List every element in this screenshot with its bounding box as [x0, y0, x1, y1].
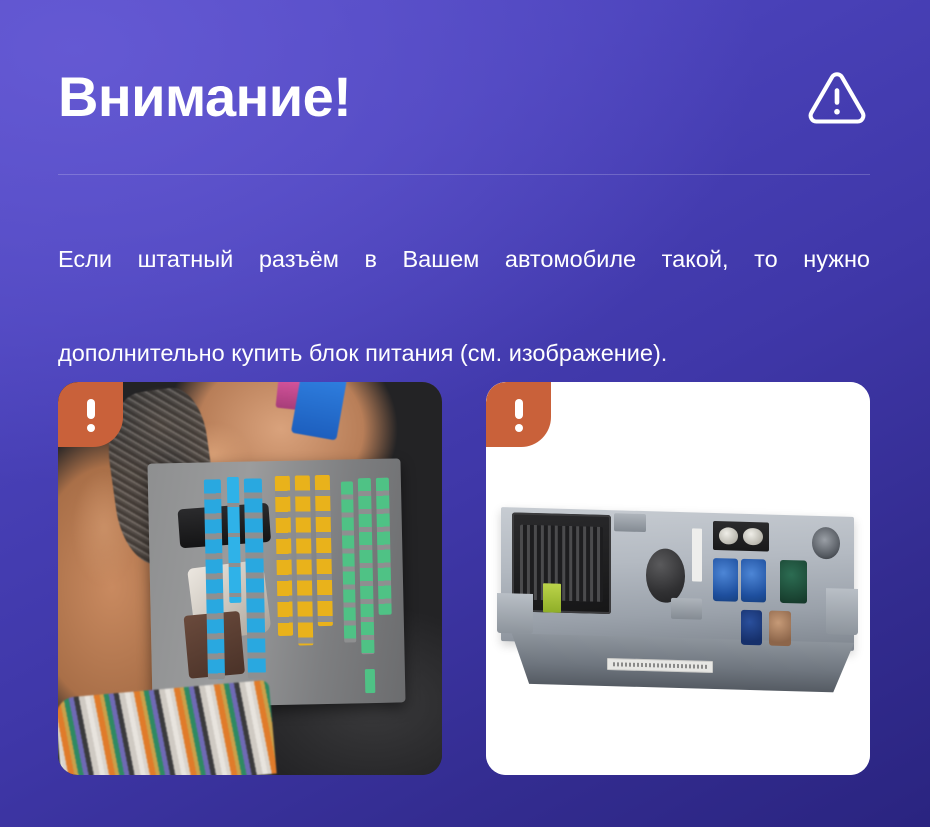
automotive-connector-body [148, 458, 406, 707]
fakra-blue-connector-2 [742, 559, 767, 602]
yellow-pin-column-2 [295, 474, 314, 645]
banner-header: Внимание! [58, 52, 870, 142]
image-card-row [58, 382, 870, 775]
power-supply-card[interactable] [486, 382, 870, 775]
green-pin-column-2 [358, 478, 374, 654]
green-fuse [544, 583, 562, 613]
stock-connector-card[interactable] [58, 382, 442, 775]
exclamation-badge [58, 382, 123, 447]
stock-connector-image [58, 382, 442, 775]
green-pin-column-3 [376, 478, 392, 615]
warning-triangle-icon [806, 66, 868, 128]
fakra-green-connector [780, 560, 806, 603]
wire-harness [58, 679, 277, 775]
exclamation-icon [87, 399, 95, 431]
power-supply-unit [501, 507, 854, 650]
rca-jack-pair [713, 521, 770, 552]
bracket-right [826, 588, 858, 634]
green-pin-single [365, 668, 376, 693]
fakra-navy-connector [742, 610, 763, 645]
mounting-tab-bottom [671, 597, 703, 619]
yellow-pin-column-3 [315, 474, 333, 625]
mounting-tab-top [614, 513, 646, 533]
power-supply-image [486, 382, 870, 775]
yellow-pin-column-1 [275, 475, 294, 636]
body-text-line-2: дополнительно купить блок питания (см. и… [58, 330, 870, 377]
green-pin-column-1 [341, 481, 357, 642]
bracket-left [498, 592, 533, 633]
blue-pin-column-2 [226, 476, 241, 603]
blue-wire [291, 382, 347, 441]
page-title: Внимание! [58, 69, 351, 125]
exclamation-badge [486, 382, 551, 447]
side-sticker [692, 528, 703, 582]
round-knob [646, 548, 685, 603]
header-divider [58, 174, 870, 175]
exclamation-icon [515, 399, 523, 431]
body-text-line-1: Если штатный разъём в Вашем автомобиле т… [58, 236, 870, 330]
body-text: Если штатный разъём в Вашем автомобиле т… [58, 236, 870, 377]
warning-banner: Внимание! Если штатный разъём в Вашем ав… [0, 0, 930, 827]
fakra-blue-connector-1 [713, 558, 738, 601]
fakra-tan-connector [770, 610, 791, 645]
